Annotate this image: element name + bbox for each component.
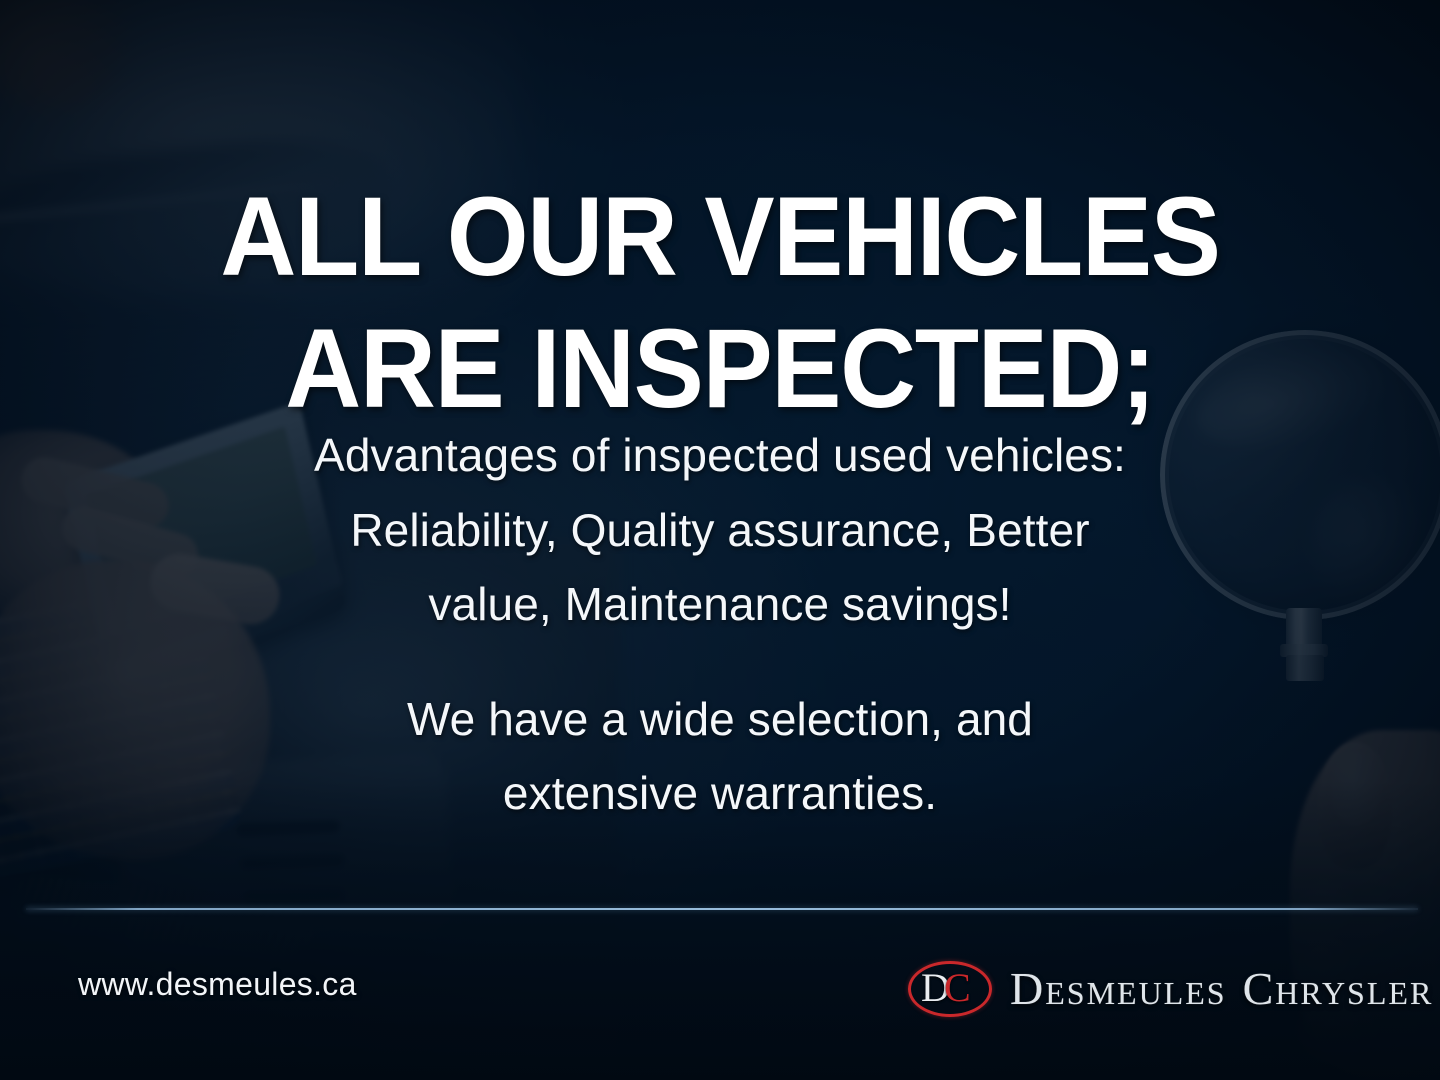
logo-monogram-icon: D C xyxy=(908,961,992,1017)
advertisement-slide: ALL OUR VEHICLES ARE INSPECTED; Advantag… xyxy=(0,0,1440,1080)
footer-divider xyxy=(26,908,1418,910)
slide-content: ALL OUR VEHICLES ARE INSPECTED; Advantag… xyxy=(0,0,1440,1080)
headline-line-1: ALL OUR VEHICLES xyxy=(43,171,1397,303)
page-title: ALL OUR VEHICLES ARE INSPECTED; xyxy=(43,171,1397,435)
body-paragraph-1: Advantages of inspected used vehicles: R… xyxy=(0,418,1440,642)
dealership-logo[interactable]: D C DesmeulesChrysler xyxy=(908,956,1433,1022)
paragraph-spacer xyxy=(0,642,1440,682)
body-line: value, Maintenance savings! xyxy=(428,578,1011,630)
body-line: Reliability, Quality assurance, Better xyxy=(350,504,1089,556)
body-line: extensive warranties. xyxy=(503,767,937,819)
logo-wordmark: DesmeulesChrysler xyxy=(1010,966,1433,1012)
logo-monogram-c: C xyxy=(944,968,971,1008)
body-copy: Advantages of inspected used vehicles: R… xyxy=(0,418,1440,831)
logo-brand-word-2: Chrysler xyxy=(1243,963,1434,1014)
logo-brand-word-1: Desmeules xyxy=(1010,963,1227,1014)
body-paragraph-2: We have a wide selection, and extensive … xyxy=(0,682,1440,831)
body-line: We have a wide selection, and xyxy=(407,693,1033,745)
headline-line-2: ARE INSPECTED; xyxy=(43,303,1397,435)
website-url[interactable]: www.desmeules.ca xyxy=(78,966,357,1003)
body-line: Advantages of inspected used vehicles: xyxy=(314,429,1126,481)
